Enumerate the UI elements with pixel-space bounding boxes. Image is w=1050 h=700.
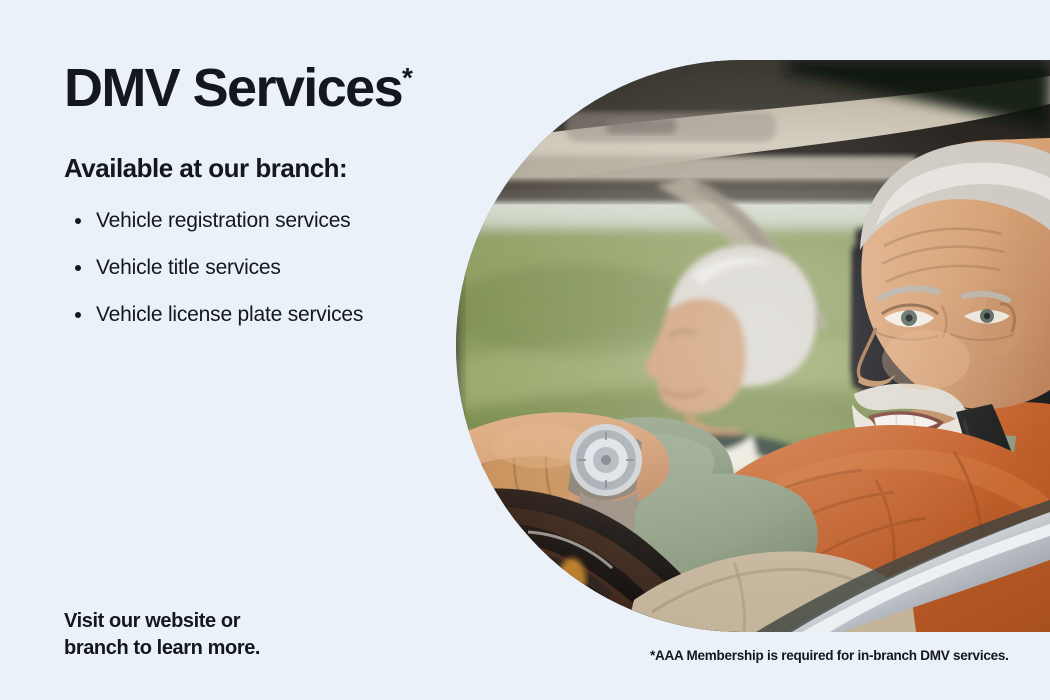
promo-banner: DMV Services* Available at our branch: V… xyxy=(0,0,1050,700)
text-column: DMV Services* Available at our branch: V… xyxy=(64,60,464,350)
footnote: *AAA Membership is required for in-branc… xyxy=(650,648,1009,663)
bullet-dot-icon xyxy=(75,218,81,224)
list-item: Vehicle registration services xyxy=(64,208,464,234)
bullet-dot-icon xyxy=(75,265,81,271)
hero-photo xyxy=(456,60,1050,632)
page-title: DMV Services* xyxy=(64,60,464,117)
list-item-label: Vehicle license plate services xyxy=(96,303,363,326)
list-item: Vehicle license plate services xyxy=(64,302,464,328)
call-to-action: Visit our website or branch to learn mor… xyxy=(64,608,364,662)
subheading: Available at our branch: xyxy=(64,153,464,184)
list-item: Vehicle title services xyxy=(64,255,464,281)
cta-line-1: Visit our website or xyxy=(64,610,240,632)
list-item-label: Vehicle title services xyxy=(96,256,281,279)
page-title-asterisk: * xyxy=(402,62,413,93)
page-title-text: DMV Services xyxy=(64,58,402,118)
list-item-label: Vehicle registration services xyxy=(96,209,351,232)
services-list: Vehicle registration services Vehicle ti… xyxy=(64,208,464,329)
hero-photo-illustration xyxy=(456,60,1050,632)
cta-line-2: branch to learn more. xyxy=(64,635,364,662)
bullet-dot-icon xyxy=(75,312,81,318)
